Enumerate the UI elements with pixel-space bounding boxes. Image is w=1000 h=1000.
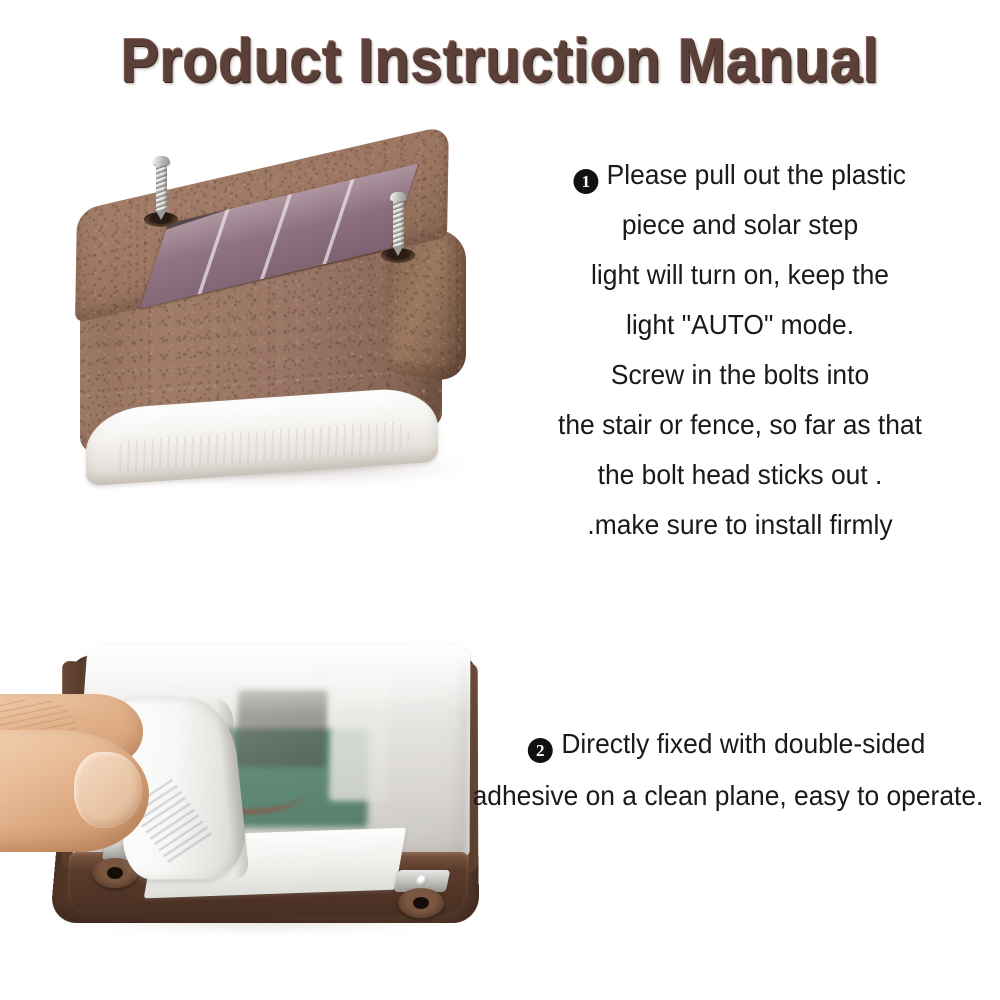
screw-head: [153, 156, 170, 165]
screw-shaft: [393, 201, 404, 247]
step-1-line-8: .make sure to install firmly: [500, 500, 980, 550]
step-2-line-1-text: Directly fixed with double-sided: [561, 728, 925, 759]
step-marker-1: 1: [574, 169, 599, 194]
step-2-line-2: adhesive on a clean plane, easy to opera…: [473, 770, 982, 822]
instruction-step-2: 2Directly fixed with double-sided adhesi…: [473, 718, 982, 822]
hand: [0, 694, 168, 874]
step-1-line-5: Screw in the bolts into: [500, 350, 980, 400]
step-1-text: 1Please pull out the plastic piece and s…: [500, 150, 980, 550]
page-title: Product Instruction Manual: [35, 26, 965, 97]
step-2-line-1: 2Directly fixed with double-sided: [473, 718, 982, 770]
step-1-line-3: light will turn on, keep the: [500, 250, 980, 300]
screw-tip: [156, 211, 166, 220]
step-1-line-7: the bolt head sticks out .: [500, 450, 980, 500]
step-1-line-1-text: Please pull out the plastic: [607, 159, 906, 190]
step-1-line-1: 1Please pull out the plastic: [500, 150, 980, 200]
product-photo-top: [58, 150, 508, 520]
screw-left: [153, 156, 170, 220]
screw-boss-right: [398, 888, 444, 918]
screw-shaft: [156, 165, 167, 211]
step-1-line-2: piece and solar step: [500, 200, 980, 250]
step-1-line-4: light "AUTO" mode.: [500, 300, 980, 350]
screw-head: [390, 192, 407, 201]
product-photo-bottom: [0, 620, 500, 965]
instruction-step-1: 1Please pull out the plastic piece and s…: [490, 150, 990, 550]
screw-right: [390, 192, 407, 256]
step-marker-2: 2: [528, 738, 553, 763]
screw-tip: [393, 247, 403, 256]
step-1-line-6: the stair or fence, so far as that: [500, 400, 980, 450]
